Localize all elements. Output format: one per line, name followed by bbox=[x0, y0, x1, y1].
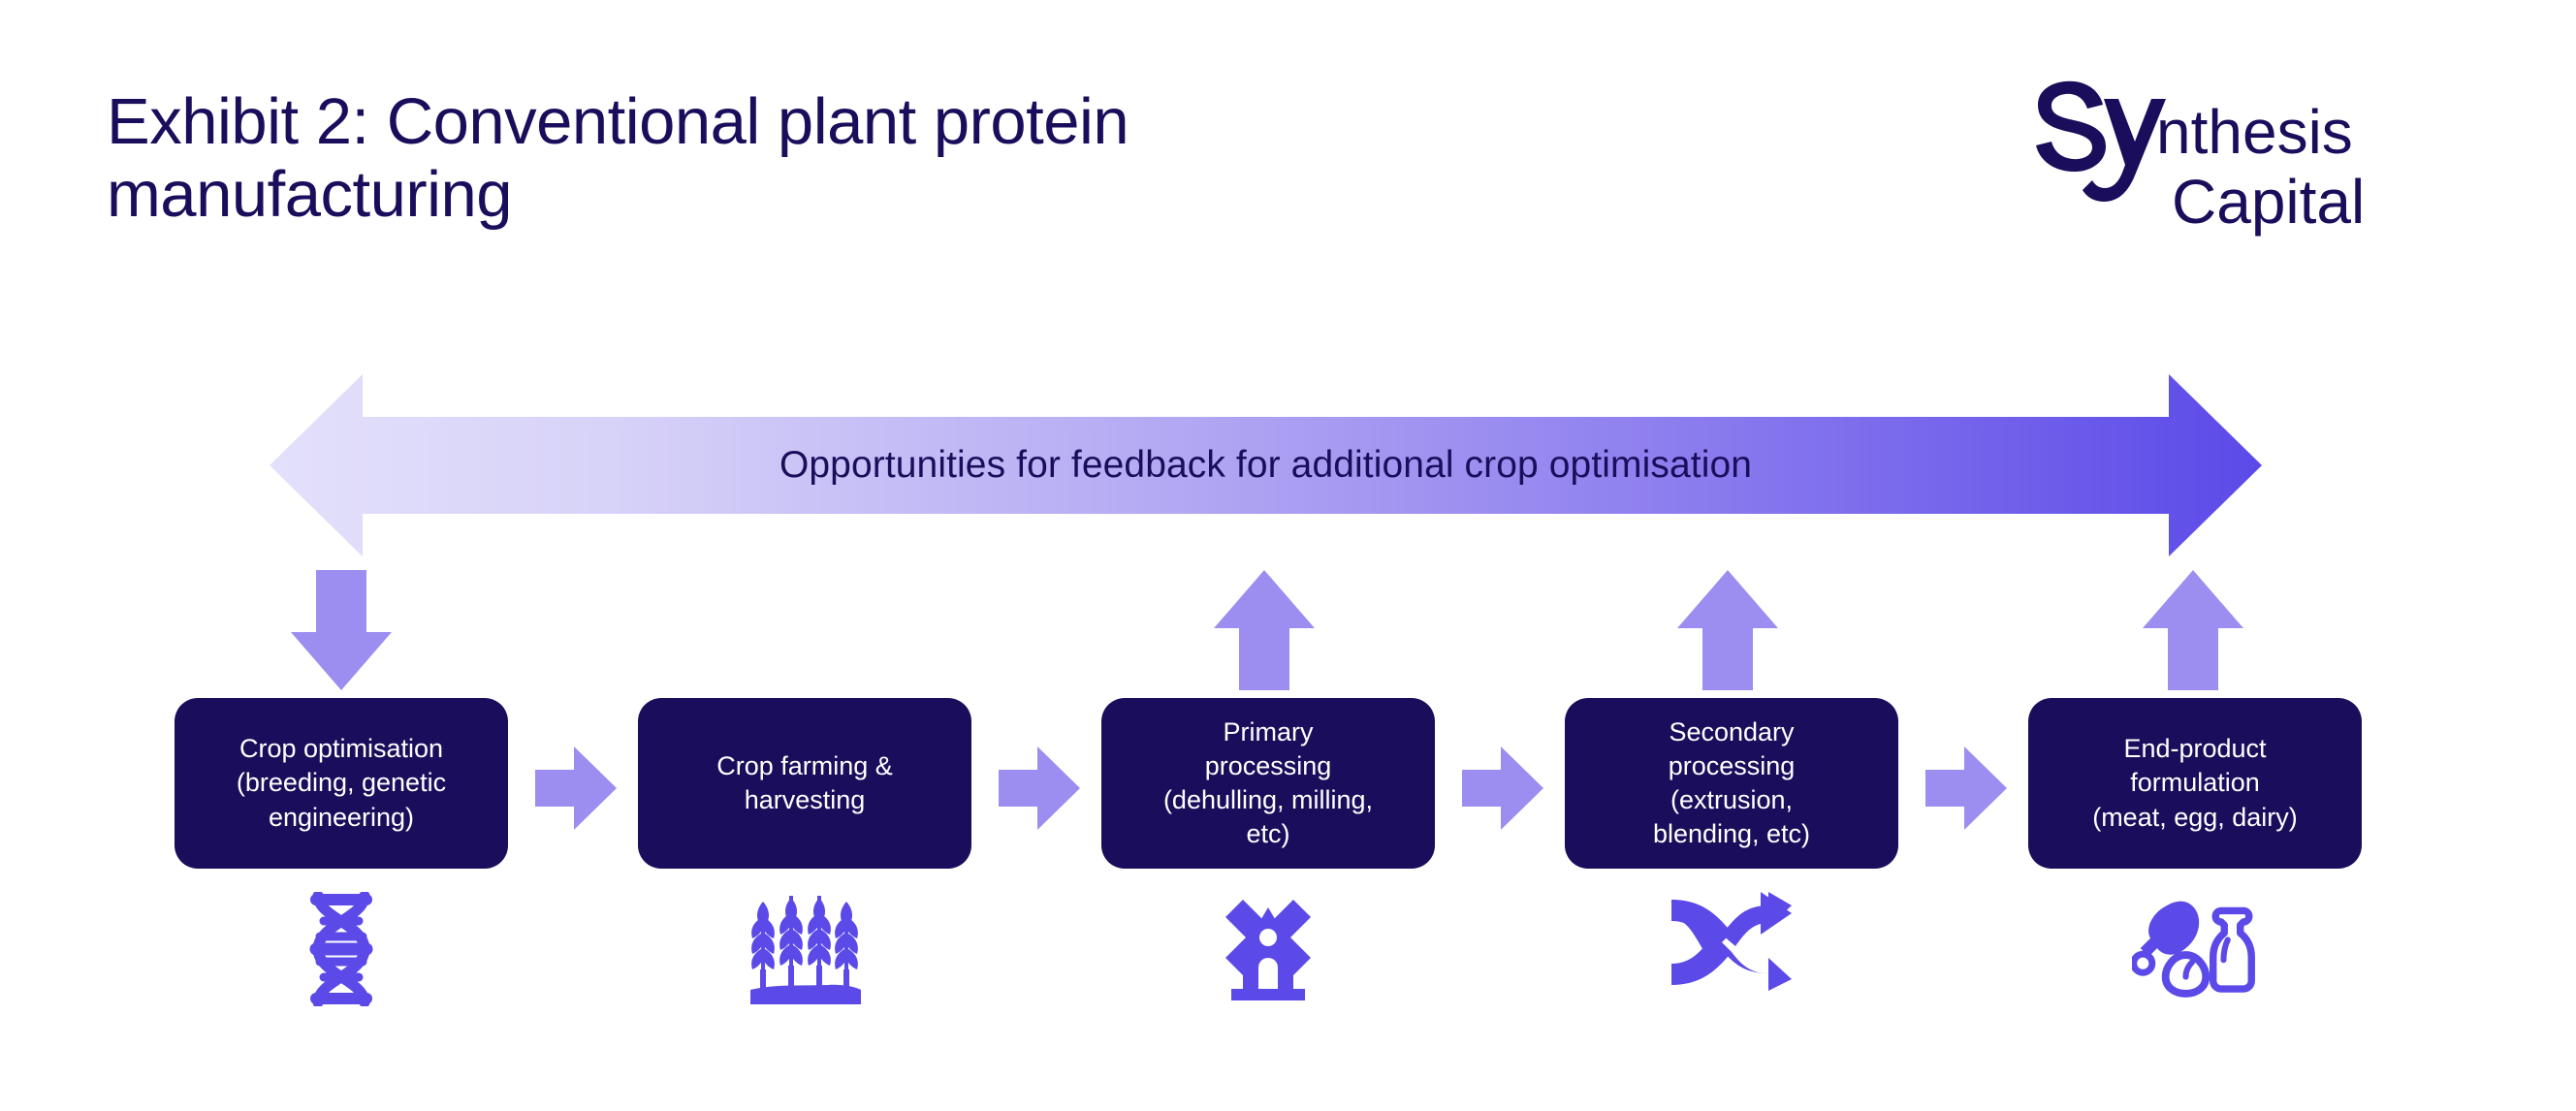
connector-chevron-right-4 bbox=[1925, 746, 2007, 830]
windmill-icon bbox=[1205, 892, 1331, 1006]
stage-secondary-processing[interactable]: Secondary processing (extrusion, blendin… bbox=[1565, 698, 1898, 1006]
food-products-icon bbox=[2132, 892, 2258, 1006]
synthesis-capital-logo: nthesis Capital bbox=[2028, 76, 2445, 240]
connector-chevron-right-2 bbox=[999, 746, 1080, 830]
diagram-canvas: Exhibit 2: Conventional plant protein ma… bbox=[0, 0, 2576, 1111]
stage-box-end-product-formulation[interactable]: End-product formulation (meat, egg, dair… bbox=[2028, 698, 2362, 869]
stage-label-secondary-processing: Secondary processing (extrusion, blendin… bbox=[1653, 715, 1810, 851]
stage-label-end-product-formulation: End-product formulation (meat, egg, dair… bbox=[2092, 732, 2298, 834]
feedback-arrow-up-primary-processing bbox=[1214, 570, 1315, 690]
process-flow-row: Crop optimisation (breeding, genetic eng… bbox=[175, 698, 2404, 1086]
stage-label-crop-farming-harvesting: Crop farming & harvesting bbox=[716, 749, 893, 817]
page-title: Exhibit 2: Conventional plant protein ma… bbox=[107, 85, 1619, 231]
svg-text:nthesis: nthesis bbox=[2156, 97, 2353, 167]
feedback-arrow-up-secondary-processing bbox=[1677, 570, 1778, 690]
stage-end-product-formulation[interactable]: End-product formulation (meat, egg, dair… bbox=[2028, 698, 2362, 1006]
shuffle-icon bbox=[1669, 892, 1795, 1006]
feedback-arrow-down-crop-optimisation bbox=[291, 570, 392, 690]
stage-crop-optimisation[interactable]: Crop optimisation (breeding, genetic eng… bbox=[175, 698, 508, 1006]
feedback-arrow-up-end-product-formulation bbox=[2143, 570, 2243, 690]
stage-primary-processing[interactable]: Primary processing (dehulling, milling, … bbox=[1101, 698, 1435, 1006]
stage-box-crop-optimisation[interactable]: Crop optimisation (breeding, genetic eng… bbox=[175, 698, 508, 869]
dna-icon bbox=[278, 892, 404, 1006]
wheat-icon bbox=[742, 892, 868, 1006]
stage-crop-farming-harvesting[interactable]: Crop farming & harvesting bbox=[638, 698, 971, 1006]
stage-box-secondary-processing[interactable]: Secondary processing (extrusion, blendin… bbox=[1565, 698, 1898, 869]
stage-box-primary-processing[interactable]: Primary processing (dehulling, milling, … bbox=[1101, 698, 1435, 869]
svg-text:Capital: Capital bbox=[2172, 167, 2365, 237]
stage-label-crop-optimisation: Crop optimisation (breeding, genetic eng… bbox=[237, 732, 446, 834]
connector-chevron-right-1 bbox=[535, 746, 617, 830]
connector-chevron-right-3 bbox=[1462, 746, 1543, 830]
stage-label-primary-processing: Primary processing (dehulling, milling, … bbox=[1163, 715, 1373, 851]
stage-box-crop-farming-harvesting[interactable]: Crop farming & harvesting bbox=[638, 698, 971, 869]
feedback-banner-arrow bbox=[270, 374, 2262, 556]
